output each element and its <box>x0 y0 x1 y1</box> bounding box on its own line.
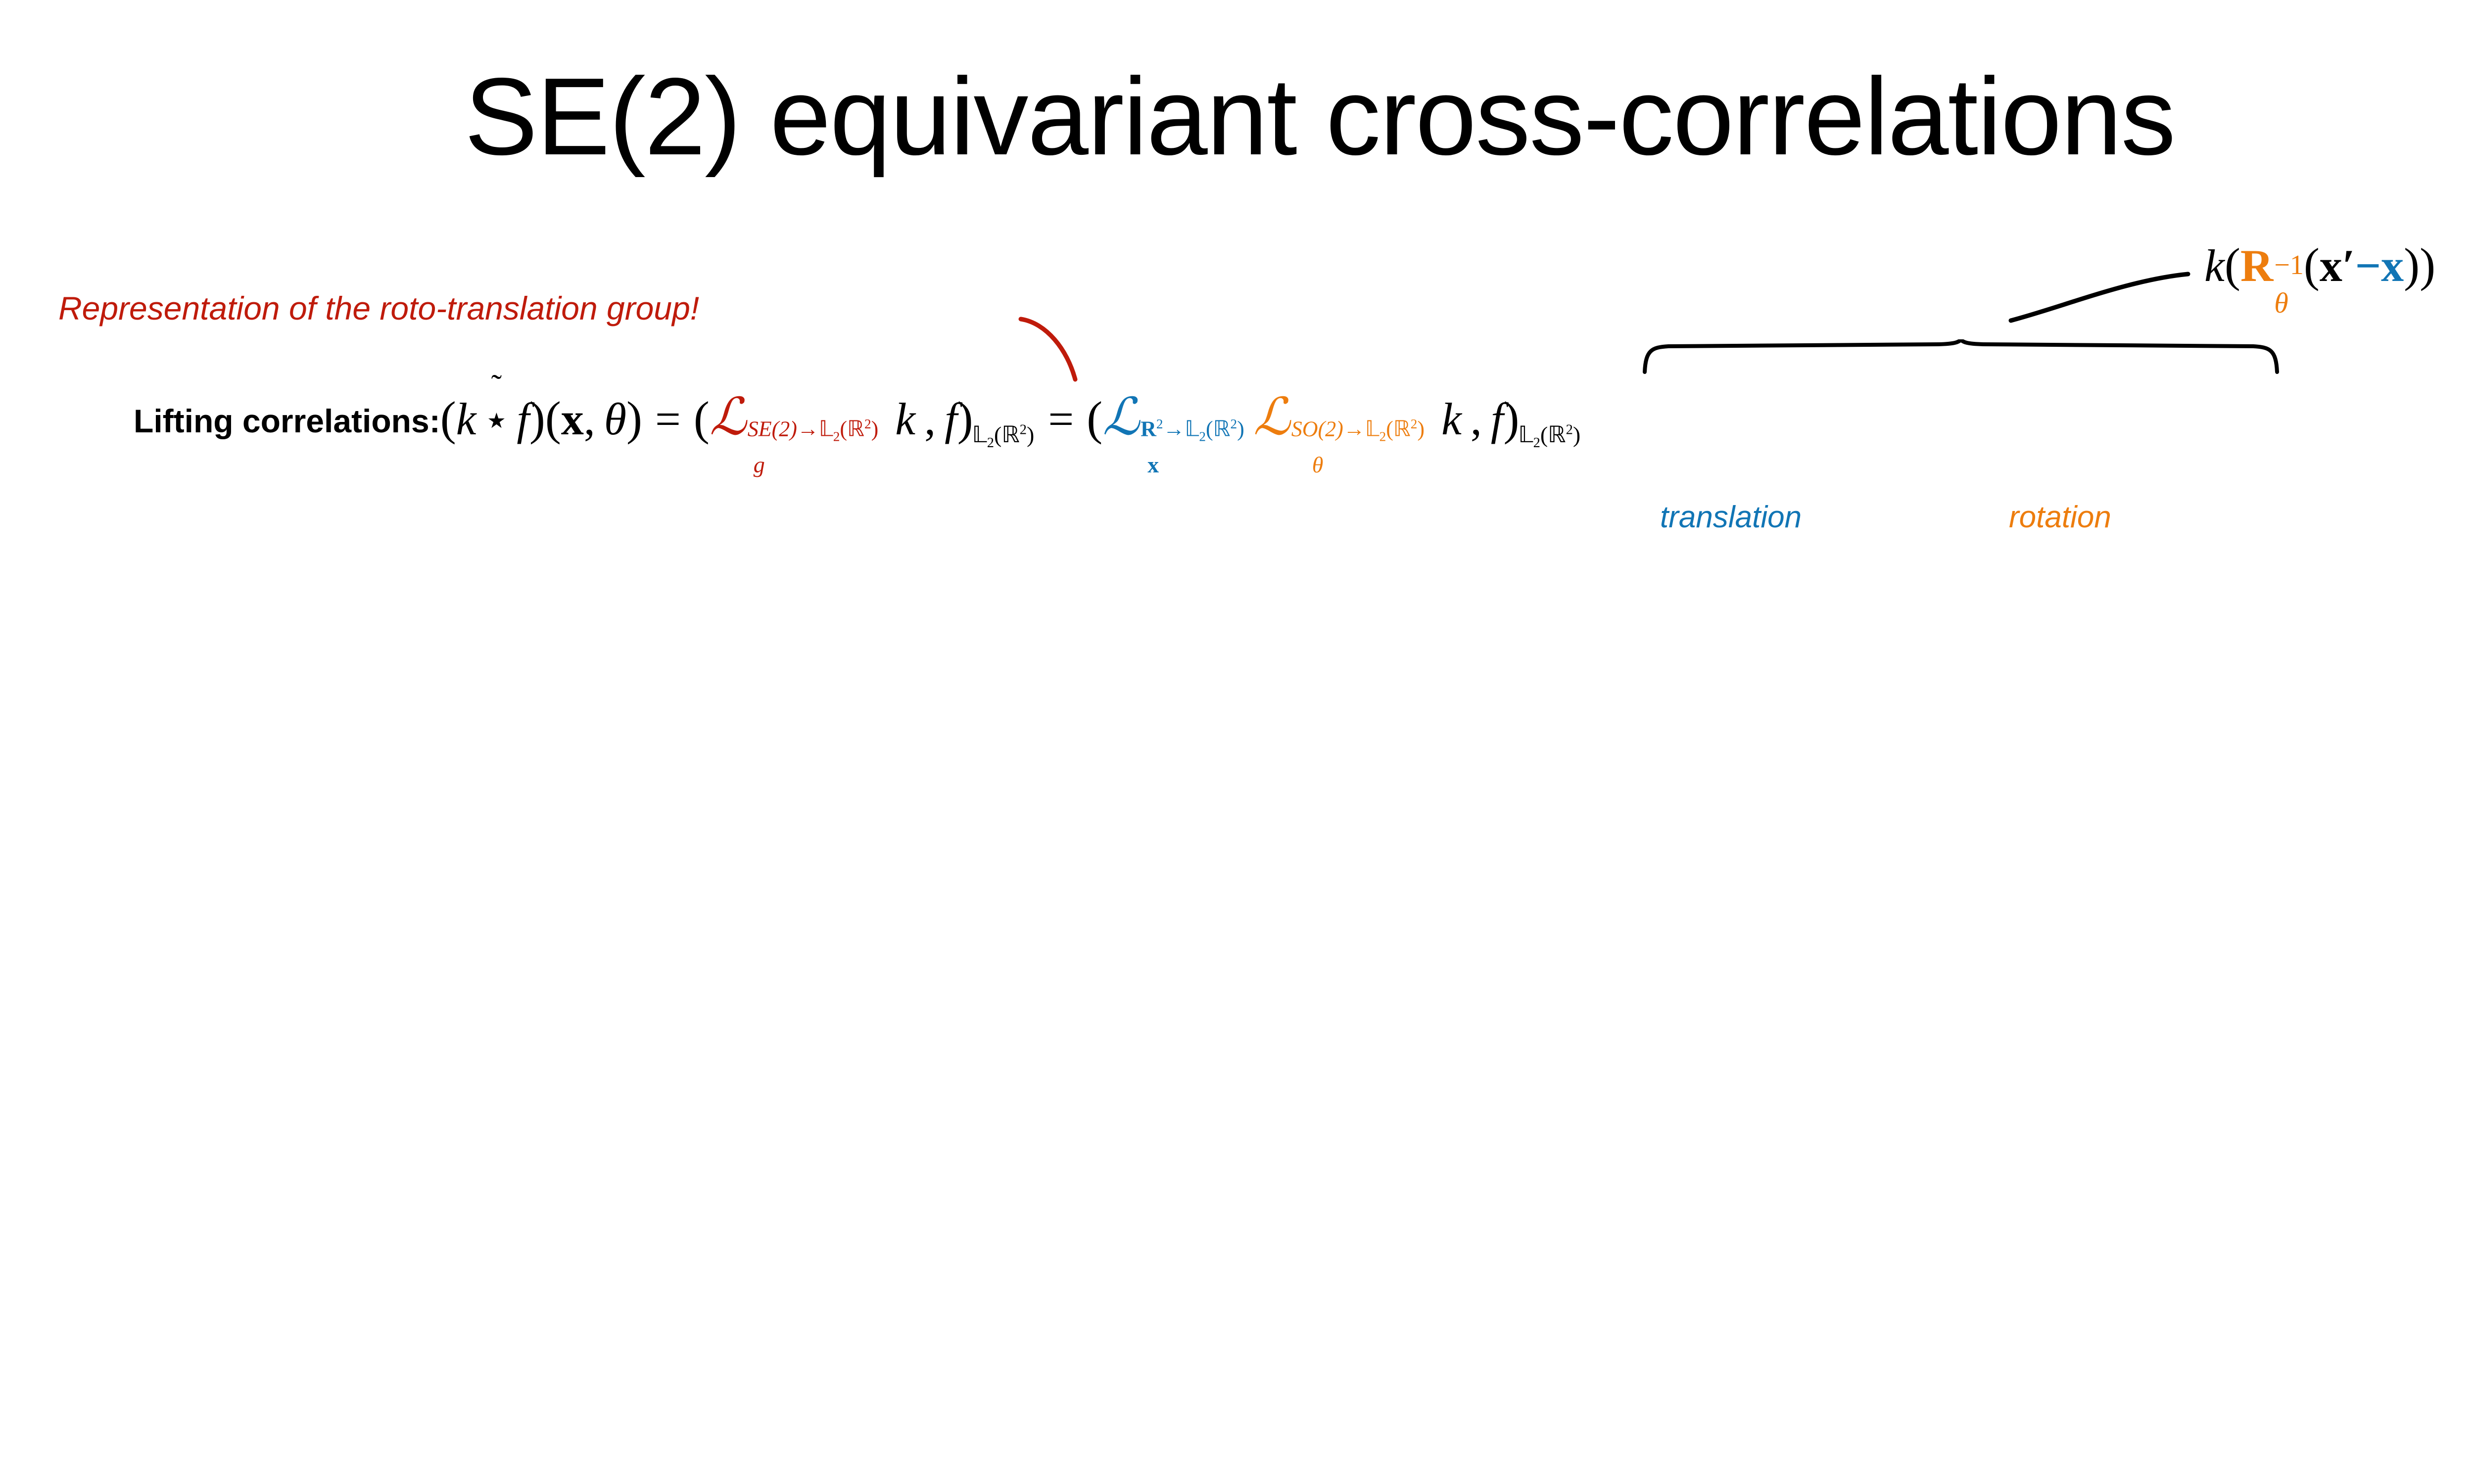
trans-sup-arrow-icon: → <box>1163 417 1185 441</box>
lhs-k: k <box>456 393 476 445</box>
annot-open-paren: ( <box>2225 238 2240 291</box>
rotation-operator-subscript: θ <box>1312 454 1425 476</box>
term1-ip-open: ( <box>994 422 1001 447</box>
se2-sup-base: SE(2)→ <box>748 417 819 441</box>
lifting-correlations-label: Lifting correlations: <box>134 402 440 440</box>
term1-ip-L: 𝕃 <box>972 422 987 447</box>
lhs-theta: θ <box>604 393 626 445</box>
tilde-accent-icon: ˜ <box>491 368 502 404</box>
term1-ip-2: 2 <box>987 435 994 451</box>
annot-k: k <box>2204 240 2225 291</box>
rot-sup-L-sub: 2 <box>1380 429 1386 444</box>
main-equation: Lifting correlations: (k˜⋆f)(x,θ) = (ℒSE… <box>134 391 1581 474</box>
term2-ip-open: ( <box>1540 422 1548 447</box>
lhs-comma: , <box>584 393 595 445</box>
term2-ip-exp: 2 <box>1566 422 1573 438</box>
term2-ip-R: ℝ <box>1548 422 1566 447</box>
annot-R-superscript: −1 <box>2274 251 2304 279</box>
se2-operator-subscript: g <box>754 454 878 476</box>
lhs-f: f <box>517 393 529 445</box>
term2-ip-close: ) <box>1573 422 1580 447</box>
trans-sup-open: ( <box>1206 417 1213 441</box>
annot-inner-close-paren: ) <box>2404 238 2420 291</box>
term1-ip-exp: 2 <box>1020 422 1027 438</box>
term2-open-paren: ( <box>1087 391 1102 446</box>
rot-sup-close: ) <box>1417 417 1425 441</box>
translation-operator-superscript: R2→𝕃2(ℝ2) <box>1141 417 1244 444</box>
rot-sup-R: ℝ <box>1393 417 1411 441</box>
lhs-x: x <box>561 393 584 445</box>
term2-close-paren: ) <box>1503 391 1519 446</box>
term2-ip-L: 𝕃 <box>1518 422 1533 447</box>
trans-sup-base-exp: 2 <box>1156 417 1163 431</box>
annot-x-prime: x′ <box>2320 240 2355 291</box>
lhs-args-close-paren: ) <box>626 391 642 446</box>
rotation-label: rotation <box>2009 500 2111 535</box>
trans-sup-R: ℝ <box>1213 417 1231 441</box>
translation-label: translation <box>1660 500 1802 535</box>
topright-annotation-formula: k(R−1θ(x′−x)) <box>2204 237 2435 315</box>
rotation-operator: ℒSO(2)→𝕃2(ℝ2)θ <box>1253 392 1425 474</box>
red-callout-text: Representation of the roto-translation g… <box>58 289 699 327</box>
term1-ip-R: ℝ <box>1001 422 1019 447</box>
se2-sup-R-exp: 2 <box>864 417 871 431</box>
equals-sign-1: = <box>642 393 694 445</box>
annot-minus-x: −x <box>2355 240 2404 291</box>
trans-sup-L-sub: 2 <box>1199 429 1206 444</box>
term1-k: k <box>895 393 915 445</box>
trans-sup-R-exp: 2 <box>1231 417 1237 431</box>
black-leader-curve-icon <box>2004 232 2222 326</box>
translation-operator-subscript: x <box>1147 454 1244 476</box>
rotation-operator-glyph-icon: ℒ <box>1253 392 1290 443</box>
se2-sup-open: ( <box>840 417 847 441</box>
term1-ip-close: ) <box>1027 422 1034 447</box>
se2-sup-L-sub: 2 <box>833 429 840 444</box>
rotation-operator-superscript: SO(2)→𝕃2(ℝ2) <box>1291 417 1425 444</box>
rot-sup-open: ( <box>1386 417 1393 441</box>
page-title: SE(2) equivariant cross-correlations <box>0 59 2474 175</box>
star-tilde-operator-icon: ˜⋆ <box>476 395 517 445</box>
lhs-close-paren: ) <box>529 391 545 446</box>
annot-rotation-matrix: R−1θ <box>2240 239 2304 315</box>
overbrace-icon <box>1642 339 2280 374</box>
term2-comma: , <box>1471 393 1482 445</box>
annot-close-paren: ) <box>2420 238 2435 291</box>
se2-operator: ℒSE(2)→𝕃2(ℝ2)g <box>710 392 878 474</box>
lhs-args-open-paren: ( <box>545 391 561 446</box>
rot-sup-arrow-icon: → <box>1343 417 1365 441</box>
rot-sup-base: SO(2) <box>1291 417 1343 441</box>
annot-inner-open-paren: ( <box>2304 238 2320 291</box>
lhs-open-paren: ( <box>440 391 456 446</box>
se2-operator-superscript: SE(2)→𝕃2(ℝ2) <box>748 417 878 444</box>
trans-sup-base: R <box>1141 417 1156 441</box>
trans-sup-L: 𝕃 <box>1185 417 1199 441</box>
translation-operator: ℒR2→𝕃2(ℝ2)x <box>1102 392 1244 474</box>
equals-sign-2: = <box>1035 393 1087 445</box>
term1-open-paren: ( <box>694 391 710 446</box>
slide-canvas: SE(2) equivariant cross-correlations Rep… <box>0 0 2474 1484</box>
annot-R-symbol: R <box>2240 239 2273 292</box>
trans-sup-close: ) <box>1237 417 1244 441</box>
se2-sup-R: ℝ <box>847 417 864 441</box>
rot-sup-R-exp: 2 <box>1411 417 1418 431</box>
se2-sup-close: ) <box>871 417 879 441</box>
term2-k: k <box>1441 393 1462 445</box>
rot-sup-L: 𝕃 <box>1365 417 1380 441</box>
annot-R-subscript: θ <box>2274 289 2304 318</box>
term1-innerproduct-subscript: 𝕃2(ℝ2) <box>972 421 1035 451</box>
term2-f: f <box>1491 393 1504 445</box>
translation-operator-glyph-icon: ℒ <box>1102 392 1140 443</box>
term1-close-paren: ) <box>957 391 973 446</box>
term2-ip-2: 2 <box>1533 435 1540 451</box>
term1-comma: , <box>924 393 936 445</box>
term1-f: f <box>945 393 957 445</box>
term2-innerproduct-subscript: 𝕃2(ℝ2) <box>1518 421 1580 451</box>
se2-operator-glyph-icon: ℒ <box>710 392 747 443</box>
se2-sup-L: 𝕃 <box>819 417 833 441</box>
